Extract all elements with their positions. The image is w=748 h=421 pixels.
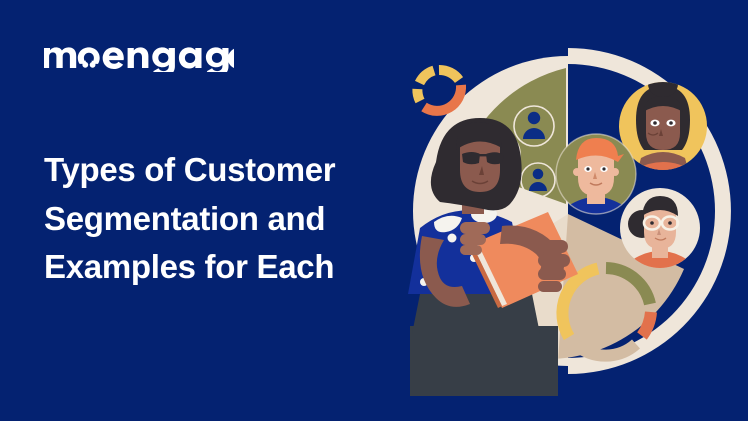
desk <box>410 326 558 396</box>
title-line-1: Types of Customer <box>44 146 394 195</box>
title-line-3: Examples for Each <box>44 243 394 292</box>
promo-banner: moengage <box>0 0 748 421</box>
customer-segmentation-illustration <box>398 26 738 396</box>
title-line-2: Segmentation and <box>44 195 394 244</box>
donut-chart-small <box>417 70 461 111</box>
page-title: Types of Customer Segmentation and Examp… <box>44 146 394 292</box>
moengage-logo[interactable]: moengage <box>44 38 234 72</box>
